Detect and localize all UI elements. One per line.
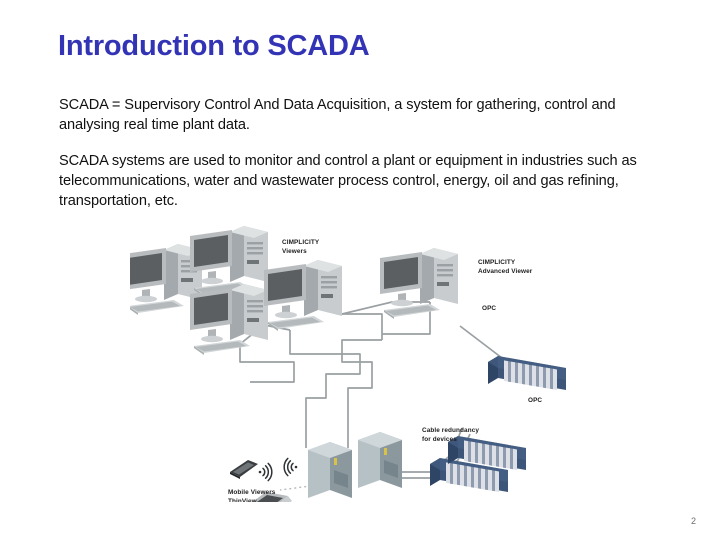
page-title: Introduction to SCADA (58, 30, 370, 63)
label-advanced-viewer-line1: CIMPLICITY (478, 259, 516, 266)
workstation-advanced-viewer (380, 248, 458, 319)
label-cimplicity-viewers-line2: Viewers (282, 248, 307, 255)
page-number: 2 (691, 516, 696, 526)
slide: Introduction to SCADA SCADA = Supervisor… (0, 0, 720, 540)
server-tower-2 (358, 432, 402, 488)
opc-rack-module (488, 356, 566, 390)
workstation-viewer-3 (190, 284, 268, 355)
paragraph-2: SCADA systems are used to monitor and co… (59, 152, 659, 211)
label-cable-redundancy-line1: Cable redundancy (422, 427, 479, 434)
label-cimplicity-viewers-line1: CIMPLICITY (282, 239, 320, 246)
label-mobile-viewers-line1: Mobile Viewers (228, 489, 276, 496)
paragraph-1: SCADA = Supervisory Control And Data Acq… (59, 96, 659, 135)
mobile-phone-device (230, 460, 258, 479)
wifi-icon-phone (259, 463, 272, 480)
server-tower-1 (308, 442, 352, 498)
workstation-viewer-4 (264, 260, 342, 331)
label-opc-link: OPC (482, 305, 496, 312)
wifi-icon-server (284, 458, 297, 475)
label-advanced-viewer-line2: Advanced Viewer (478, 268, 533, 275)
scada-architecture-diagram: CIMPLICITY Viewers CIMPLICITY Advanced V… (130, 222, 600, 502)
body-text-block: SCADA = Supervisory Control And Data Acq… (59, 96, 659, 228)
label-cable-redundancy-line2: for devices (422, 436, 457, 443)
label-opc-rack: OPC (528, 397, 542, 404)
label-mobile-viewers-line2: ThinView (228, 498, 257, 502)
